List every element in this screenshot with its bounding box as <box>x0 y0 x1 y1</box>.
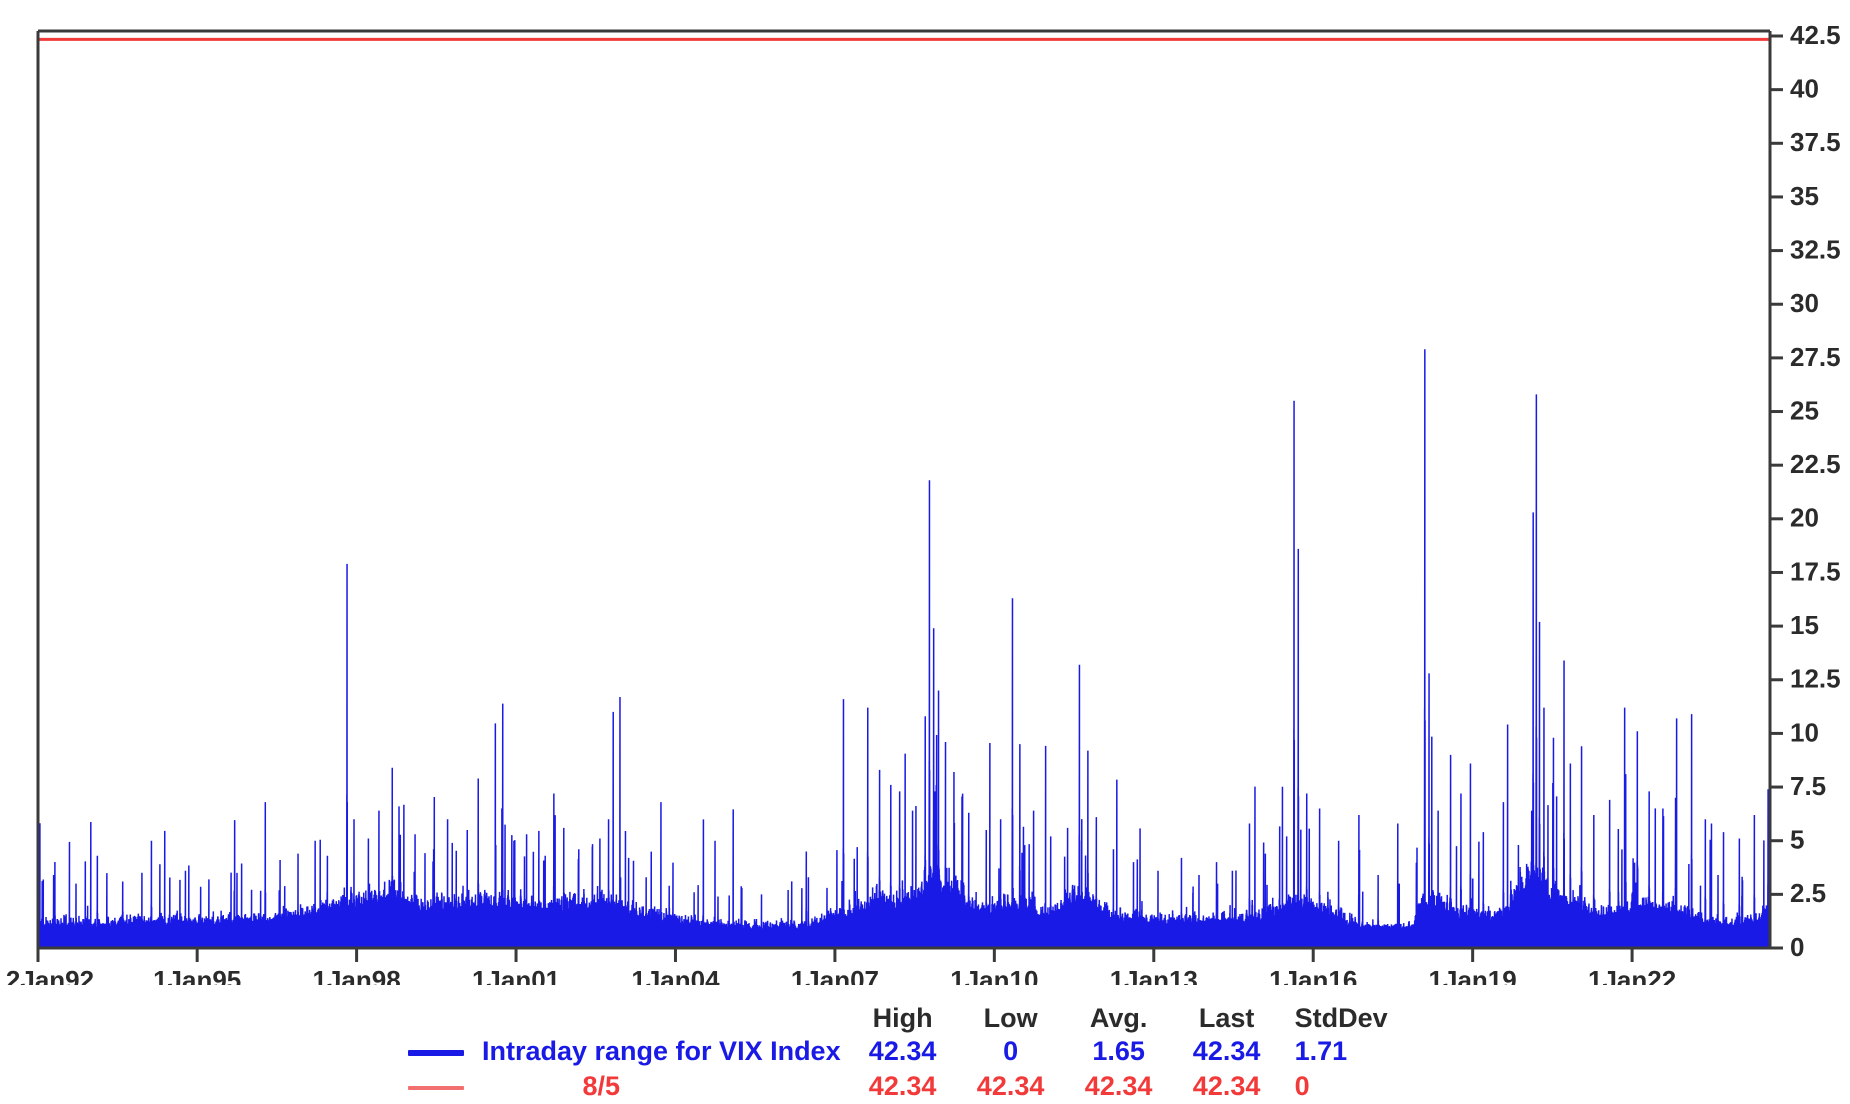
legend-row-threshold[interactable]: 8/5 42.34 42.34 42.34 42.34 0 <box>408 1069 1403 1104</box>
y-tick-label: 7.5 <box>1790 771 1826 801</box>
y-tick-label: 25 <box>1790 395 1819 425</box>
legend-table: High Low Avg. Last StdDev Intraday range… <box>408 1002 1403 1104</box>
x-tick-label: 1Jan07 <box>791 965 879 985</box>
legend-vix-high: 42.34 <box>849 1034 957 1069</box>
intraday-range-series <box>38 39 1770 948</box>
legend-header-high: High <box>849 1002 957 1034</box>
y-axis-ticks: 02.557.51012.51517.52022.52527.53032.535… <box>1770 20 1841 962</box>
legend-label-threshold: 8/5 <box>482 1069 849 1104</box>
y-tick-label: 42.5 <box>1790 20 1841 50</box>
x-axis-ticks: 2Jan921Jan951Jan981Jan011Jan041Jan071Jan… <box>6 948 1676 985</box>
legend-threshold-low: 42.34 <box>957 1069 1065 1104</box>
chart-canvas: 02.557.51012.51517.52022.52527.53032.535… <box>0 0 1850 985</box>
vix-intraday-range-chart: 02.557.51012.51517.52022.52527.53032.535… <box>0 0 1850 1102</box>
legend-vix-avg: 1.65 <box>1065 1034 1173 1069</box>
x-tick-label: 1Jan10 <box>950 965 1038 985</box>
x-tick-label: 1Jan22 <box>1588 965 1676 985</box>
x-tick-label: 1Jan98 <box>313 965 401 985</box>
legend-header-spacer-name <box>482 1002 849 1034</box>
legend-threshold-high: 42.34 <box>849 1069 957 1104</box>
y-tick-label: 12.5 <box>1790 664 1841 694</box>
plot-area: 02.557.51012.51517.52022.52527.53032.535… <box>0 0 1850 985</box>
y-tick-label: 10 <box>1790 717 1819 747</box>
legend-row-vix-series[interactable]: Intraday range for VIX Index 42.34 0 1.6… <box>408 1034 1403 1069</box>
x-tick-label: 1Jan95 <box>153 965 241 985</box>
x-tick-label: 1Jan19 <box>1429 965 1517 985</box>
chart-axes <box>38 31 1770 948</box>
y-tick-label: 22.5 <box>1790 449 1841 479</box>
legend-threshold-stddev: 0 <box>1281 1069 1403 1104</box>
y-tick-label: 0 <box>1790 932 1804 962</box>
x-tick-label: 1Jan04 <box>631 965 720 985</box>
y-tick-label: 5 <box>1790 825 1804 855</box>
y-tick-label: 35 <box>1790 181 1819 211</box>
legend-header-stddev: StdDev <box>1281 1002 1403 1034</box>
y-tick-label: 30 <box>1790 288 1819 318</box>
red-line-swatch-icon <box>408 1069 482 1104</box>
blue-line-swatch-icon <box>408 1034 482 1069</box>
y-tick-label: 15 <box>1790 610 1819 640</box>
legend-header-low: Low <box>957 1002 1065 1034</box>
chart-legend: High Low Avg. Last StdDev Intraday range… <box>0 1002 1850 1102</box>
y-tick-label: 32.5 <box>1790 234 1841 264</box>
series-path-vix <box>38 39 1770 946</box>
y-tick-label: 2.5 <box>1790 878 1826 908</box>
legend-header-avg: Avg. <box>1065 1002 1173 1034</box>
y-tick-label: 17.5 <box>1790 556 1841 586</box>
legend-vix-last: 42.34 <box>1173 1034 1281 1069</box>
x-tick-label: 1Jan16 <box>1269 965 1357 985</box>
x-tick-label: 1Jan01 <box>472 965 560 985</box>
legend-threshold-avg: 42.34 <box>1065 1069 1173 1104</box>
legend-vix-stddev: 1.71 <box>1281 1034 1403 1069</box>
legend-vix-low: 0 <box>957 1034 1065 1069</box>
x-tick-label: 2Jan92 <box>6 965 94 985</box>
y-tick-label: 27.5 <box>1790 342 1841 372</box>
legend-header-spacer-swatch <box>408 1002 482 1034</box>
y-tick-label: 40 <box>1790 74 1819 104</box>
y-tick-label: 20 <box>1790 503 1819 533</box>
legend-label-vix-series: Intraday range for VIX Index <box>482 1034 849 1069</box>
legend-header-row: High Low Avg. Last StdDev <box>408 1002 1403 1034</box>
x-tick-label: 1Jan13 <box>1110 965 1198 985</box>
legend-threshold-last: 42.34 <box>1173 1069 1281 1104</box>
legend-header-last: Last <box>1173 1002 1281 1034</box>
y-tick-label: 37.5 <box>1790 127 1841 157</box>
